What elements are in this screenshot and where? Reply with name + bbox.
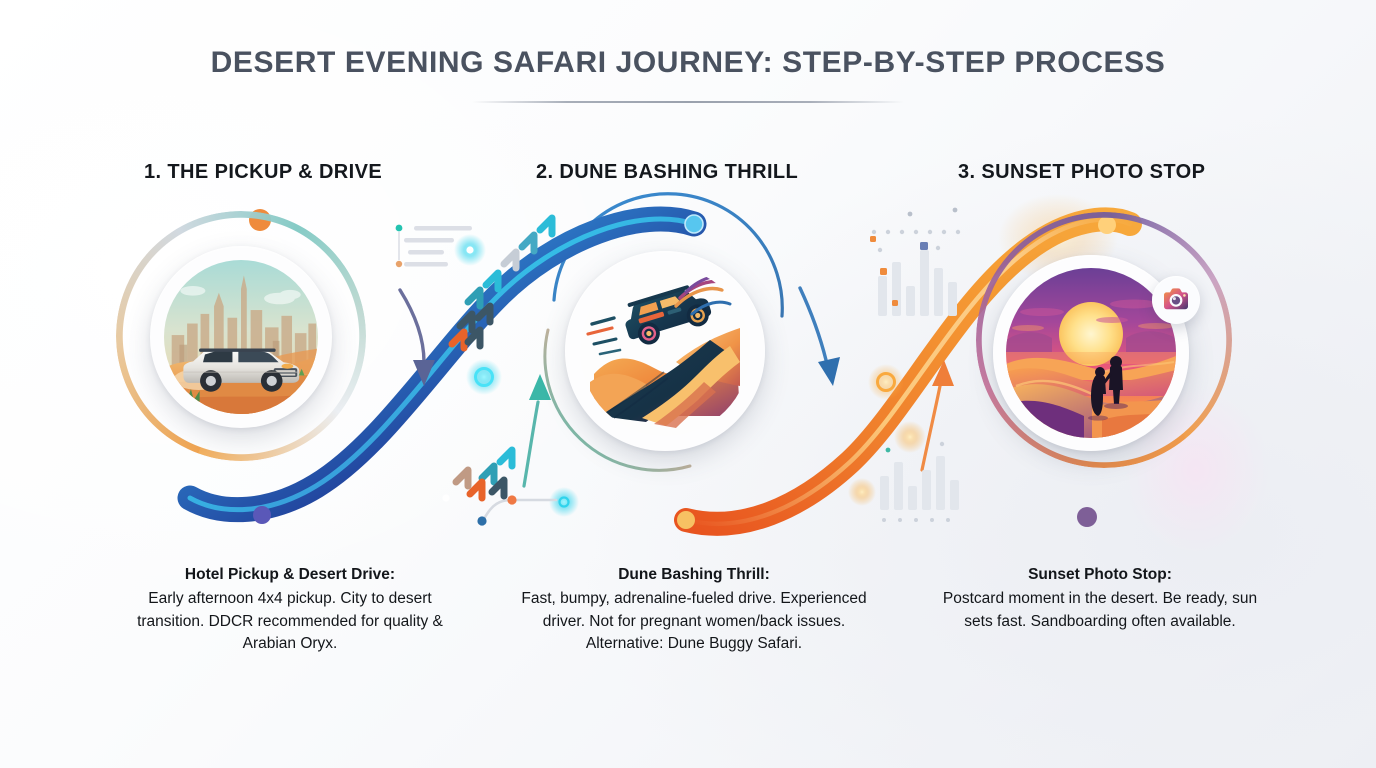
step-2-lead: Dune Bashing Thrill: <box>518 564 870 586</box>
camera-badge[interactable] <box>1152 276 1200 324</box>
step-1-lead: Hotel Pickup & Desert Drive: <box>122 564 458 586</box>
dot-grid-upper <box>872 208 960 253</box>
step-3-body: Postcard moment in the desert. Be ready,… <box>943 590 1257 629</box>
step-3-node-dot <box>1077 507 1097 527</box>
chevron-cluster-lower <box>456 450 512 498</box>
step-2-circle[interactable] <box>565 251 765 451</box>
step-1-body: Early afternoon 4x4 pickup. City to dese… <box>137 590 443 652</box>
line-placeholder-markers <box>396 225 403 268</box>
glow-dot <box>894 421 926 453</box>
glow-dot <box>848 478 876 506</box>
step-1-illustration <box>164 260 318 414</box>
arrow-up-teal <box>524 374 551 486</box>
step-3-description: Sunset Photo Stop: Postcard moment in th… <box>930 564 1270 633</box>
arrow-down-blue <box>800 288 840 386</box>
bar-decoration-upper <box>878 250 957 316</box>
step-1-circle[interactable] <box>150 246 332 428</box>
bar-decoration-lower <box>880 456 959 510</box>
step-1-description: Hotel Pickup & Desert Drive: Early after… <box>122 564 458 656</box>
camera-icon <box>1162 286 1190 314</box>
node-path-decoration <box>477 495 556 525</box>
step-3-lead: Sunset Photo Stop: <box>930 564 1270 586</box>
step-2-body: Fast, bumpy, adrenaline-fueled drive. Ex… <box>521 590 866 652</box>
step-2-illustration <box>580 266 750 436</box>
step-2-description: Dune Bashing Thrill: Fast, bumpy, adrena… <box>518 564 870 656</box>
glow-dot <box>549 487 579 517</box>
step-3-illustration <box>1006 268 1176 438</box>
infographic-canvas: Desert Evening Safari Journey: Step-by-S… <box>0 0 1376 768</box>
